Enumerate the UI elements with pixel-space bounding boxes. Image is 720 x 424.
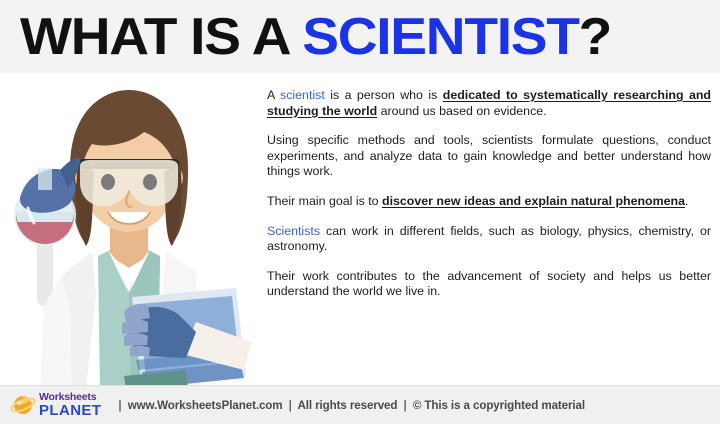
plain-text: Their work contributes to the advancemen… [267,269,711,299]
female-scientist-illustration [0,60,258,390]
paragraph-2: Using specific methods and tools, scient… [267,133,711,180]
footer-separator-1: | [115,399,124,412]
plain-text: can work in different fields, such as bi… [267,224,711,254]
plain-text: . [685,194,688,208]
plain-text: A [267,88,280,102]
plain-text: is a person who is [325,88,443,102]
paragraph-1: A scientist is a person who is dedicated… [267,88,711,119]
title-highlight-word: SCIENTIST [302,8,578,66]
paragraph-4: Scientists can work in different fields,… [267,224,711,255]
logo-top-word: Worksheets [39,392,101,403]
footer-copyright: © This is a copyrighted material [413,399,585,412]
paragraph-5: Their work contributes to the advancemen… [267,269,711,300]
poster-canvas: WHAT IS A SCIENTIST? [0,0,720,424]
keyword-text: Scientists [267,224,320,238]
logo-wordmark: Worksheets PLANET [39,392,101,419]
left-eye [101,174,115,190]
highlighted-text: discover new ideas and explain natural p… [382,194,685,208]
plain-text: Using specific methods and tools, scient… [267,133,711,178]
worksheets-planet-logo[interactable]: Worksheets PLANET [10,390,101,420]
footer-separator-3: | [401,399,410,412]
footer-website[interactable]: www.WorksheetsPlanet.com [128,399,283,412]
plain-text: Their main goal is to [267,194,382,208]
footer-separator-2: | [286,399,295,412]
paragraph-3: Their main goal is to discover new ideas… [267,194,711,210]
plain-text: around us based on evidence. [377,104,546,118]
footer-rights: All rights reserved [297,399,397,412]
title-question-mark: ? [579,8,611,66]
footer-credits: | www.WorksheetsPlanet.com | All rights … [115,399,585,412]
logo-bottom-word: PLANET [39,403,101,418]
title-part-1: WHAT IS A [20,8,302,66]
footer-bar: Worksheets PLANET | www.WorksheetsPlanet… [0,385,720,424]
right-eye [143,174,157,190]
page-title: WHAT IS A SCIENTIST? [20,8,720,66]
keyword-text: scientist [280,88,325,102]
planet-icon [10,392,36,418]
body-text-block: A scientist is a person who is dedicated… [267,88,711,300]
